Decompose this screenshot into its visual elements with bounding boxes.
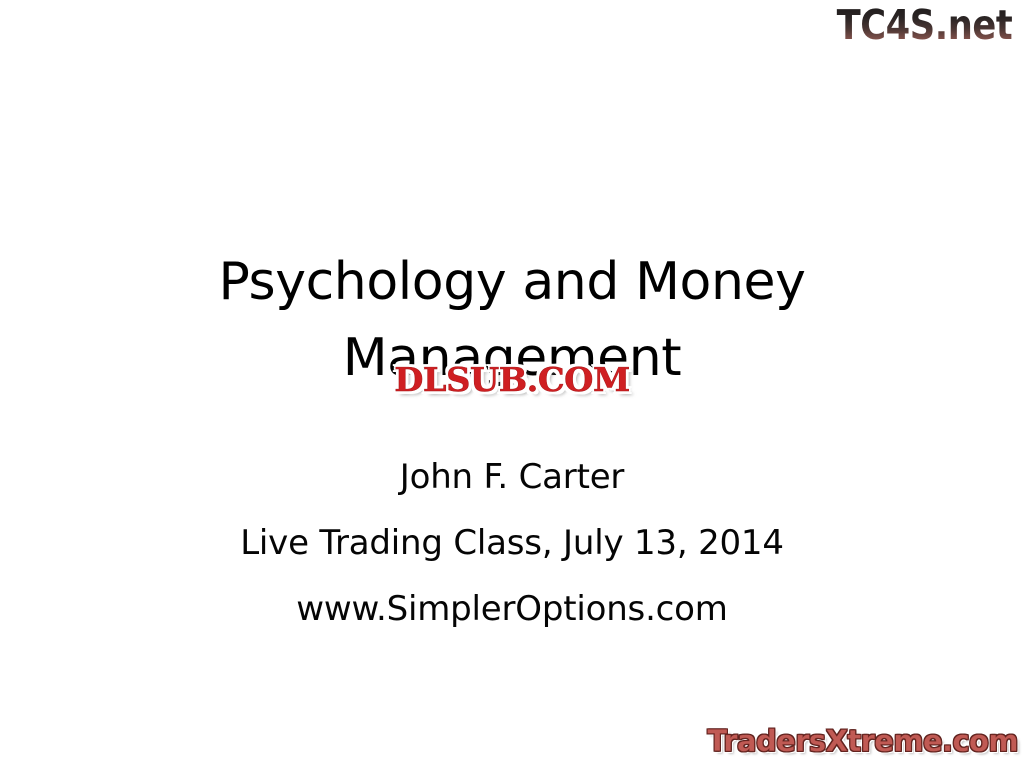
dlsub-com-watermark: DLSUB.COM xyxy=(363,360,661,400)
title-line-1: Psychology and Money xyxy=(0,244,1024,320)
presenter-name: John F. Carter xyxy=(0,444,1024,510)
website-url: www.SimplerOptions.com xyxy=(0,576,1024,642)
class-date-line: Live Trading Class, July 13, 2014 xyxy=(0,510,1024,576)
tradersxtreme-com-watermark: TradersXtreme.com xyxy=(707,722,1018,760)
presentation-slide: TC4S.net Psychology and Money Management… xyxy=(0,0,1024,768)
slide-subtitle: John F. Carter Live Trading Class, July … xyxy=(0,444,1024,642)
tc4s-net-logo: TC4S.net xyxy=(836,2,1012,48)
